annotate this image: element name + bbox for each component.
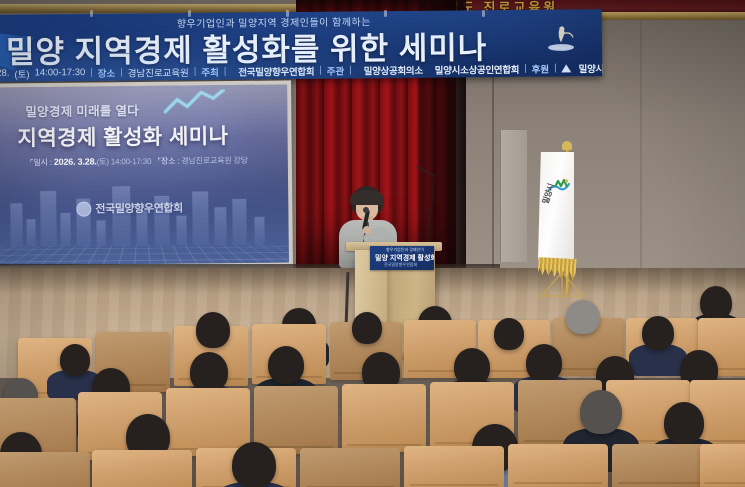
auditorium-seat [700, 444, 745, 487]
slide-title: 지역경제 활성화 세미나 [17, 120, 228, 152]
audience-member-head [60, 344, 90, 376]
banner-emblem-icon [544, 23, 578, 57]
audience-member-head [196, 312, 230, 348]
org-logo-icon [76, 201, 91, 216]
flag-stand [534, 272, 590, 300]
wall-seam-right [640, 0, 642, 290]
audience-member-head [526, 344, 562, 382]
slide-place-label: 장소 [161, 157, 175, 166]
auditorium-seat [92, 450, 192, 487]
banner-tie [384, 10, 387, 17]
banner-day: (토) [14, 66, 29, 80]
slide-date: 2026. 3.28. [54, 156, 97, 166]
auditorium-seat [404, 446, 504, 487]
banner-organizer-label: 주관 [327, 63, 345, 77]
banner-host-label: 주최 [201, 64, 219, 78]
banner-sponsor: 밀양시 [579, 61, 603, 75]
slide-subtitle: 밀양경제 미래를 열다 [25, 100, 139, 120]
audience-member-head [352, 312, 382, 344]
banner-tie [90, 10, 93, 17]
slide-day: (토) [97, 157, 109, 166]
banner-time: 14:00-17:30 [34, 67, 85, 78]
auditorium-seat [300, 448, 400, 487]
auditorium-seat [612, 444, 712, 487]
banner-organizer: 밀양상공회의소 [364, 62, 423, 77]
slide-logo-text: 전국밀양향우연합회 [95, 200, 183, 217]
slide-cityscape-graphic [0, 174, 289, 265]
podium-sign-line3: 전국밀양향우연합회 [384, 262, 417, 268]
audience-member-head [566, 300, 600, 334]
auditorium-seat [0, 452, 90, 487]
banner-sponsor-label: 후원 [532, 61, 550, 75]
city-flag [538, 152, 574, 268]
projection-screen: 밀양경제 미래를 열다 지역경제 활성화 세미나 ⌜일시 : 2026. 3.2… [0, 84, 289, 265]
audience-member-head [642, 316, 674, 350]
auditorium-seat [166, 388, 250, 456]
auditorium-seat [508, 444, 608, 487]
audience-member-head [268, 346, 304, 384]
auditorium-seat [254, 386, 338, 454]
seminar-photo: 경상남도 진로교육원 향우기업인과 밀양지역 경제인들이 함께하는 밀양 지역경… [0, 0, 745, 487]
banner-place-label: 장소 [98, 65, 116, 79]
slide-grid-graphic [0, 243, 289, 266]
auditorium-seat [342, 384, 426, 452]
audience-member-head [232, 442, 276, 487]
audience-member-head [494, 318, 524, 350]
slide-meta: ⌜일시 : 2026. 3.28.(토) 14:00-17:30 ⌜장소 : 경… [30, 155, 248, 168]
audience-member-head [580, 390, 622, 434]
flag-finial [562, 141, 572, 150]
audience-member-head [454, 348, 490, 386]
event-banner: 향우기업인과 밀양지역 경제인들이 함께하는 밀양 지역경제 활성화를 위한 세… [0, 9, 602, 82]
banner-date: 28. [0, 68, 10, 79]
sponsor-logo-icon [562, 64, 572, 72]
banner-tie [482, 10, 485, 17]
podium-sign: 향우기업인과 경제인이 밀양 지역경제 활성화 세미나 전국밀양향우연합회 [370, 246, 434, 270]
projection-screen-frame: 밀양경제 미래를 열다 지역경제 활성화 세미나 ⌜일시 : 2026. 3.2… [0, 80, 293, 271]
audience-member-head [664, 402, 704, 444]
wall-door-panel [500, 130, 527, 262]
slide-place: 경남진로교육원 강당 [181, 156, 248, 166]
slide-time: 14:00-17:30 [111, 157, 152, 166]
banner-tie [188, 10, 191, 17]
slide-org-logo: 전국밀양향우연합회 [76, 200, 183, 217]
growth-arrow-icon [163, 89, 225, 116]
banner-tie [286, 10, 289, 17]
banner-organizer2: 밀양시소상공인연합회 [435, 61, 520, 76]
audience-member-head [700, 286, 732, 320]
banner-host: 전국밀양향우연합회 [238, 63, 314, 78]
audience-member-head [190, 352, 228, 392]
banner-place: 경남진로교육원 [128, 65, 189, 80]
slide-date-label: 일시 [33, 158, 47, 167]
